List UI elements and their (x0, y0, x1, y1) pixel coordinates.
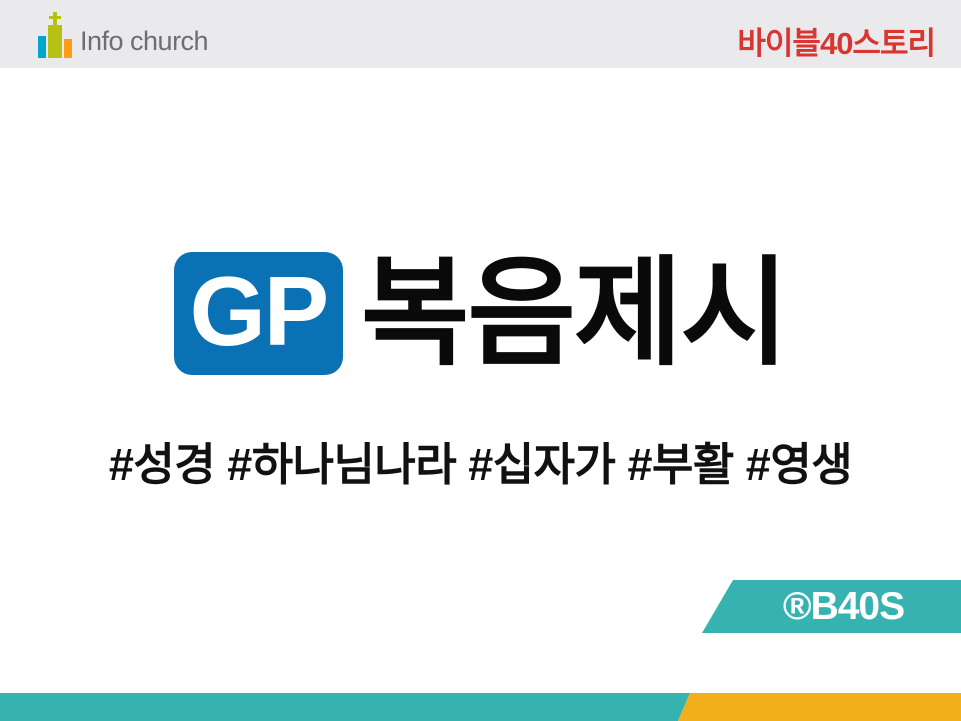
logo-bar-orange-icon (64, 39, 72, 58)
infochurch-logo-icon (38, 12, 74, 58)
footer-bar-teal (0, 693, 690, 721)
hashtag-list: #성경 #하나님나라 #십자가 #부활 #영생 (0, 428, 961, 493)
slide-canvas: Info church 바이블40스토리 GP 복음제시 #성경 #하나님나라 … (0, 0, 961, 721)
brand-wordmark: Info church (80, 28, 208, 58)
title-row: GP 복음제시 (0, 246, 961, 381)
cross-icon-vertical (53, 12, 57, 26)
cross-icon-horizontal (49, 16, 61, 19)
logo-bar-green-icon (48, 25, 62, 58)
trademark-badge-label: ®B40S (759, 587, 904, 626)
brand-logo[interactable]: Info church (38, 12, 208, 58)
gp-badge-label: GP (190, 262, 328, 360)
footer-bar-orange (678, 693, 961, 721)
logo-bar-blue-icon (38, 36, 46, 58)
series-label: 바이블40스토리 (737, 18, 935, 63)
gp-badge: GP (174, 252, 343, 375)
page-title: 복음제시 (361, 255, 787, 373)
trademark-badge: ®B40S (702, 580, 961, 633)
